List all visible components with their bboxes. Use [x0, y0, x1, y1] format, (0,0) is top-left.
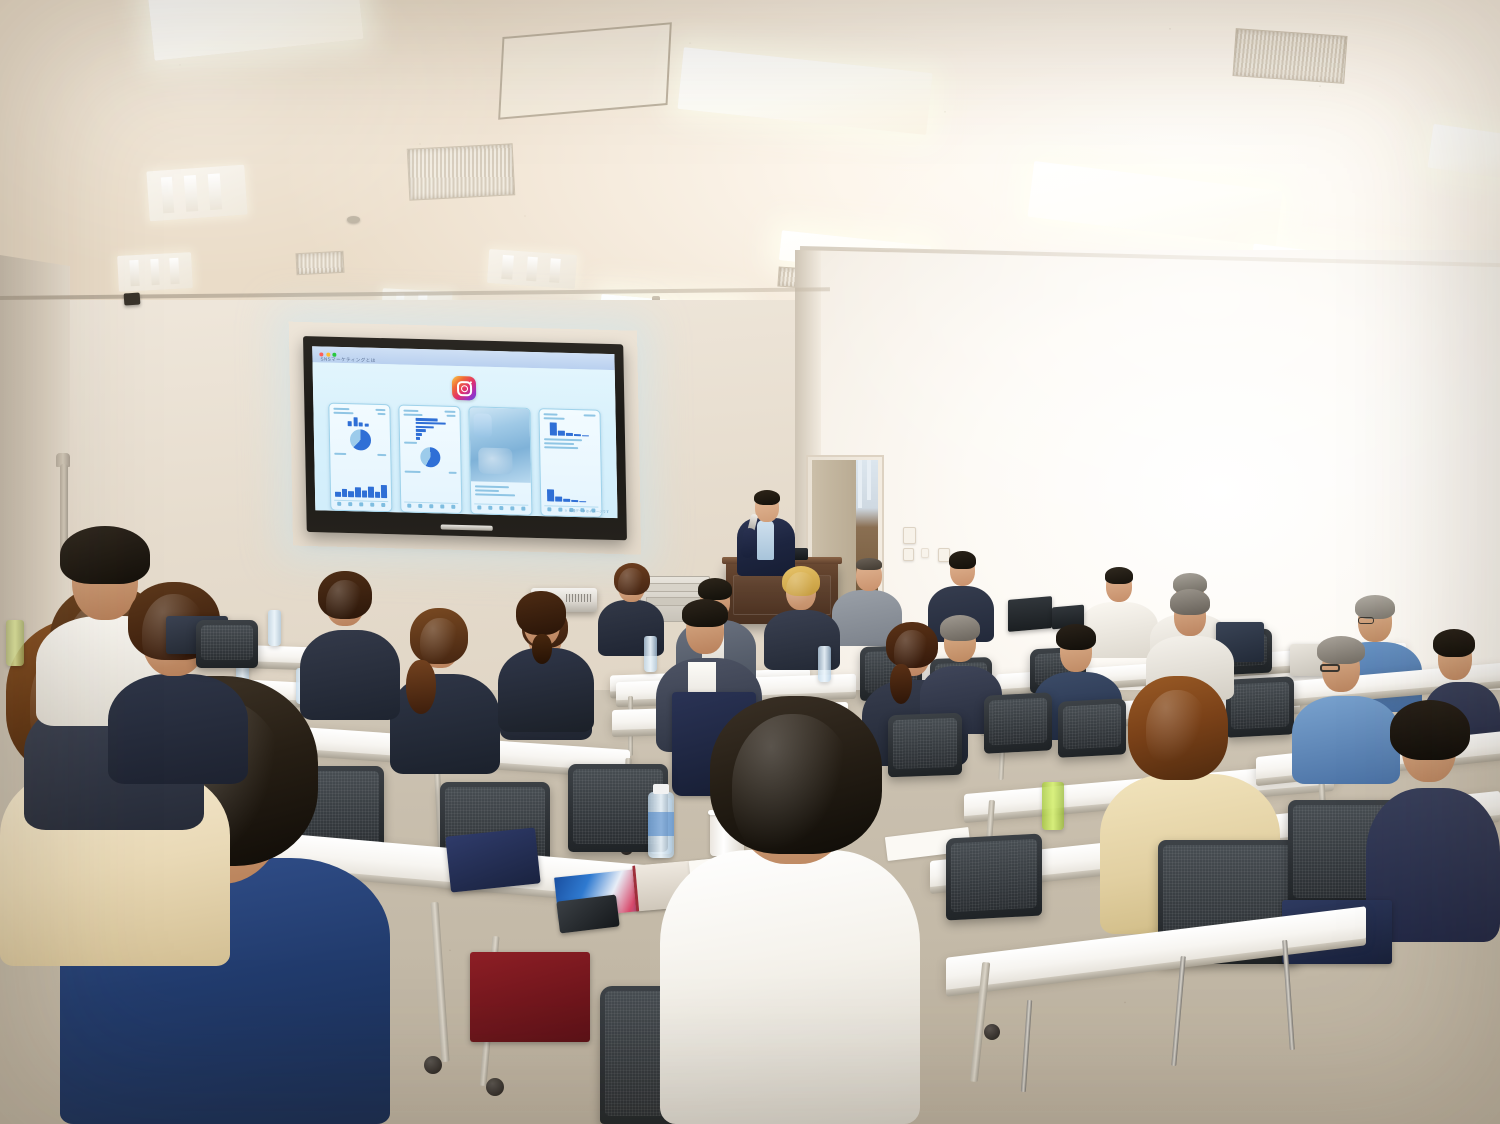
phone-mockup: [328, 403, 392, 513]
donut-chart: [420, 446, 440, 467]
ceiling-vent-2: [1232, 28, 1347, 84]
phone-nav-bar: [474, 503, 528, 511]
table-caster: [984, 1024, 1000, 1040]
instagram-lens-icon: [460, 385, 467, 392]
water-bottle[interactable]: [268, 610, 281, 646]
chair[interactable]: [196, 620, 258, 668]
attendee: [498, 600, 594, 732]
water-bottle[interactable]: [818, 646, 831, 682]
ponytail: [406, 660, 436, 714]
attendee: [390, 618, 500, 774]
bag[interactable]: [470, 952, 590, 1042]
presenter: [735, 486, 799, 576]
screen-surface: SNSマーケティングとは: [312, 346, 617, 518]
glasses-icon: [1320, 664, 1340, 672]
phone-nav-bar: [404, 502, 458, 510]
ceiling-access-hatch: [498, 22, 672, 120]
ponytail: [532, 634, 552, 664]
ceiling-light-9: [487, 249, 577, 289]
smoke-detector-icon: [347, 216, 360, 223]
laptop[interactable]: [1008, 596, 1052, 632]
seminar-room-photo: SNSマーケティングとは: [0, 0, 1500, 1124]
presenter-head: [755, 492, 779, 522]
ceiling-vent-1: [407, 143, 516, 200]
presenter-shirt: [757, 520, 774, 560]
ceiling-light-7: [146, 165, 247, 222]
ceiling-vent-3: [295, 251, 344, 275]
instagram-icon: [452, 376, 476, 401]
projection-screen: SNSマーケティングとは: [303, 336, 627, 540]
phone-nav-bar: [334, 500, 388, 508]
chair[interactable]: [984, 692, 1052, 754]
water-bottle[interactable]: [6, 620, 24, 666]
phone-mockup: [538, 408, 602, 518]
phone-mockup: [398, 404, 462, 514]
phone-mockup-row: [319, 402, 611, 518]
glasses-icon: [1358, 617, 1374, 624]
table-caster: [424, 1056, 442, 1074]
presenter-hair: [754, 490, 780, 505]
attendee: [660, 714, 920, 1124]
light-switch-panel[interactable]: [903, 527, 916, 544]
table-caster: [486, 1078, 504, 1096]
chair[interactable]: [946, 833, 1042, 920]
ceiling-light-8: [117, 252, 193, 292]
wall-outlet-1[interactable]: [903, 548, 914, 561]
instagram-dot-icon: [470, 381, 472, 383]
ponytail: [890, 664, 912, 704]
green-drink-bottle[interactable]: [1042, 782, 1064, 830]
donut-chart: [349, 429, 370, 451]
phone-mockup: [468, 406, 532, 516]
bag[interactable]: [445, 827, 540, 892]
security-camera-icon: [124, 292, 141, 305]
slide-body: ※ 各種データはイメージです: [313, 362, 618, 518]
feed-photo: [469, 407, 530, 483]
presentation-slide: SNSマーケティングとは: [312, 346, 617, 518]
